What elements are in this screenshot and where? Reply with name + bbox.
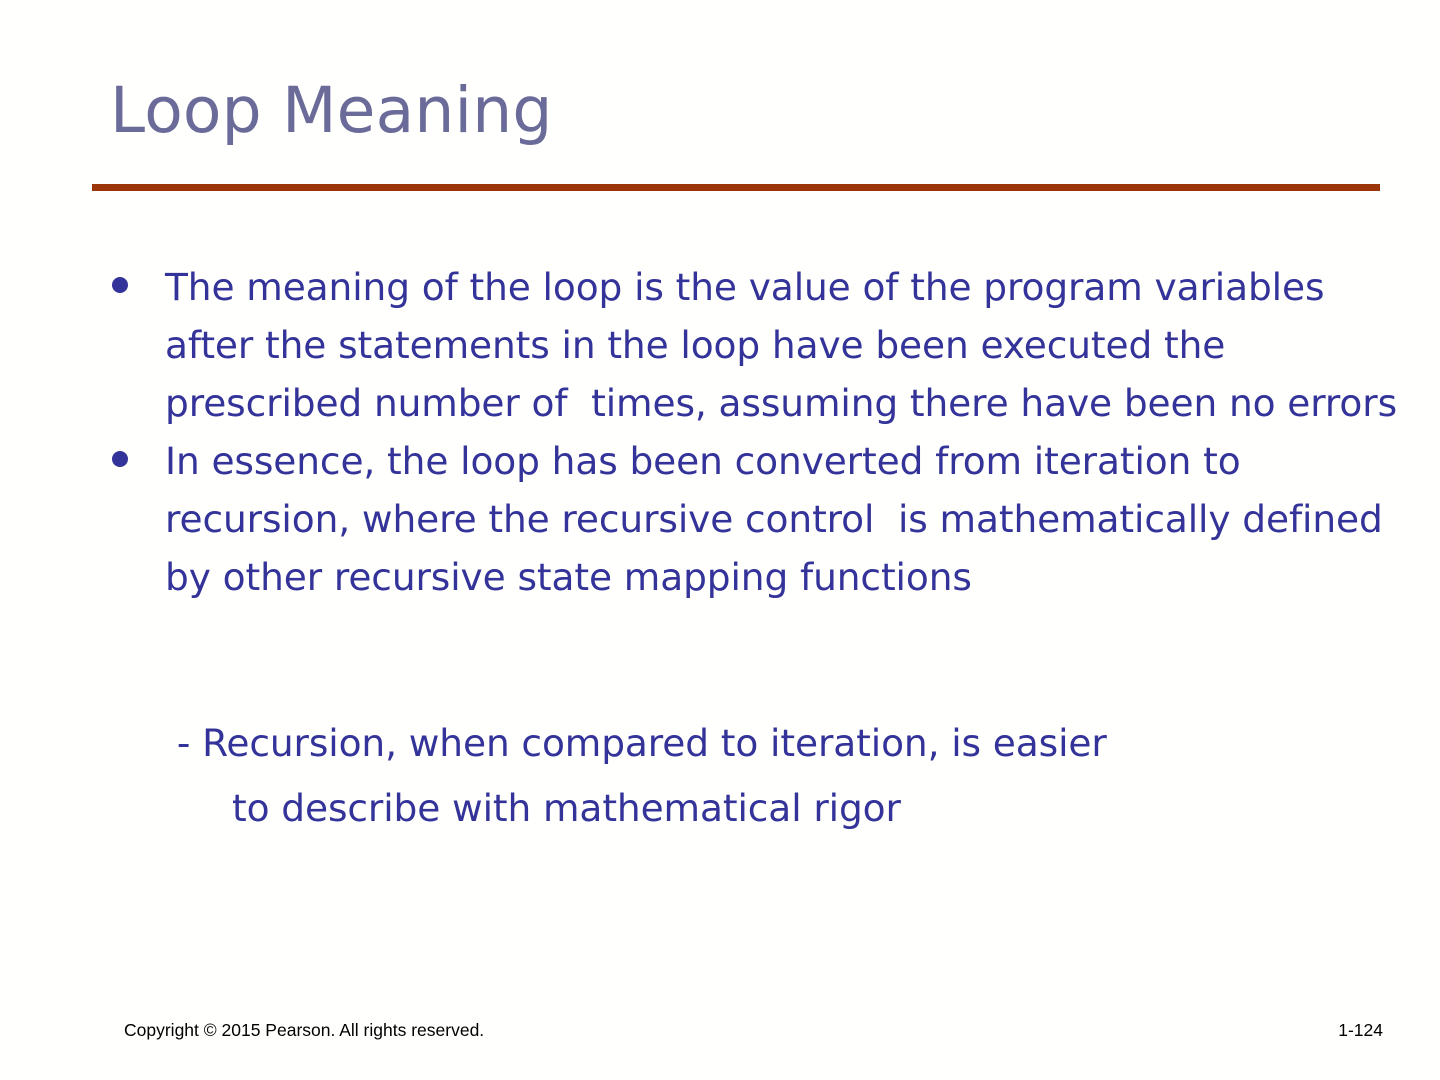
bullet-item-text: The meaning of the loop is the value of … bbox=[165, 258, 1400, 432]
slide-body: The meaning of the loop is the value of … bbox=[100, 258, 1400, 837]
bullet-item-text: In essence, the loop has been converted … bbox=[165, 432, 1400, 606]
sub-note-text: - Recursion, when compared to iteration,… bbox=[100, 714, 1400, 772]
page-number: 1-124 bbox=[1338, 1018, 1383, 1042]
slide: Loop Meaning The meaning of the loop is … bbox=[0, 0, 1440, 1080]
sub-note-continuation-text: to describe with mathematical rigor bbox=[100, 779, 1400, 837]
bullet-dot-icon bbox=[112, 451, 128, 467]
copyright-notice: Copyright © 2015 Pearson. All rights res… bbox=[124, 1018, 484, 1042]
page-title: Loop Meaning bbox=[110, 74, 1370, 148]
bullet-item: The meaning of the loop is the value of … bbox=[100, 258, 1400, 432]
slide-footer: Copyright © 2015 Pearson. All rights res… bbox=[0, 1018, 1440, 1048]
bullet-dot-icon bbox=[112, 277, 128, 293]
bullet-item: In essence, the loop has been converted … bbox=[100, 432, 1400, 606]
title-divider-rule bbox=[92, 184, 1380, 191]
